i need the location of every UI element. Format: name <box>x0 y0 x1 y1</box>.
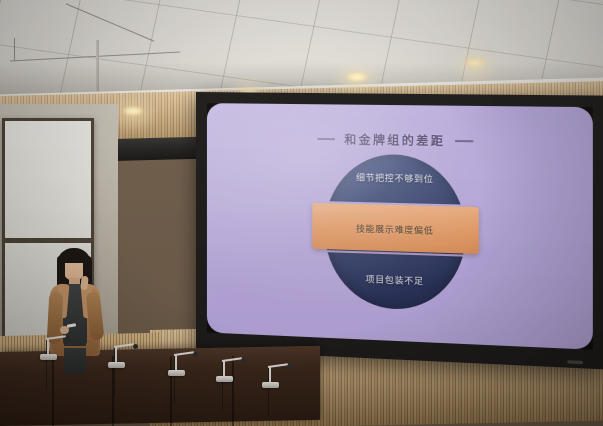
microphone-3-base <box>168 370 185 376</box>
room-environment: 和金牌组的差距 细节把控不够到位 技能展示难度偏低 项目包装不足 <box>0 0 603 426</box>
microphone-5-head <box>287 364 292 369</box>
title-rule-right <box>455 140 473 142</box>
three-band-circle-diagram: 细节把控不够到位 技能展示难度偏低 项目包装不足 <box>325 153 466 312</box>
microphone-1-arm <box>46 336 66 340</box>
microphone-3 <box>168 348 202 376</box>
wall-mounted-led-display[interactable]: 和金牌组的差距 细节把控不够到位 技能展示难度偏低 项目包装不足 <box>196 92 603 369</box>
display-screen[interactable]: 和金牌组的差距 细节把控不够到位 技能展示难度偏低 项目包装不足 <box>207 103 593 350</box>
microphone-3-arm <box>174 352 194 356</box>
microphone-1-base <box>40 354 57 360</box>
presentation-room-photo: 和金牌组的差距 细节把控不够到位 技能展示难度偏低 项目包装不足 <box>0 0 603 426</box>
microphone-4 <box>216 354 250 382</box>
microphone-4-neck <box>223 360 225 377</box>
display-brand-logo <box>567 360 583 364</box>
ceiling-cable-2 <box>14 38 15 60</box>
microphone-5-neck <box>269 366 271 383</box>
microphone-3-neck <box>175 354 177 371</box>
microphone-1-head <box>65 336 70 341</box>
microphone-5-arm <box>268 364 288 368</box>
downlight-5 <box>464 58 486 68</box>
downlight-2 <box>122 106 144 116</box>
microphone-2-neck <box>115 346 117 363</box>
slide-title: 和金牌组的差距 <box>344 131 445 149</box>
microphone-2-arm <box>114 344 134 348</box>
microphone-1 <box>40 332 74 360</box>
microphone-2-head <box>133 344 138 349</box>
microphone-1-neck <box>47 338 49 355</box>
whiteboard-divider <box>2 238 94 243</box>
microphone-4-head <box>241 358 246 363</box>
slide-title-row: 和金牌组的差距 <box>207 129 593 151</box>
microphone-2 <box>108 340 142 368</box>
microphone-5 <box>262 360 296 388</box>
microphone-4-arm <box>222 358 242 362</box>
microphone-3-head <box>193 352 198 357</box>
title-rule-left <box>317 138 335 140</box>
downlight-4 <box>346 72 368 82</box>
microphone-2-base <box>108 362 125 368</box>
presentation-slide: 和金牌组的差距 细节把控不够到位 技能展示难度偏低 项目包装不足 <box>207 103 593 350</box>
microphone-5-base <box>262 382 279 388</box>
microphone-4-base <box>216 376 233 382</box>
